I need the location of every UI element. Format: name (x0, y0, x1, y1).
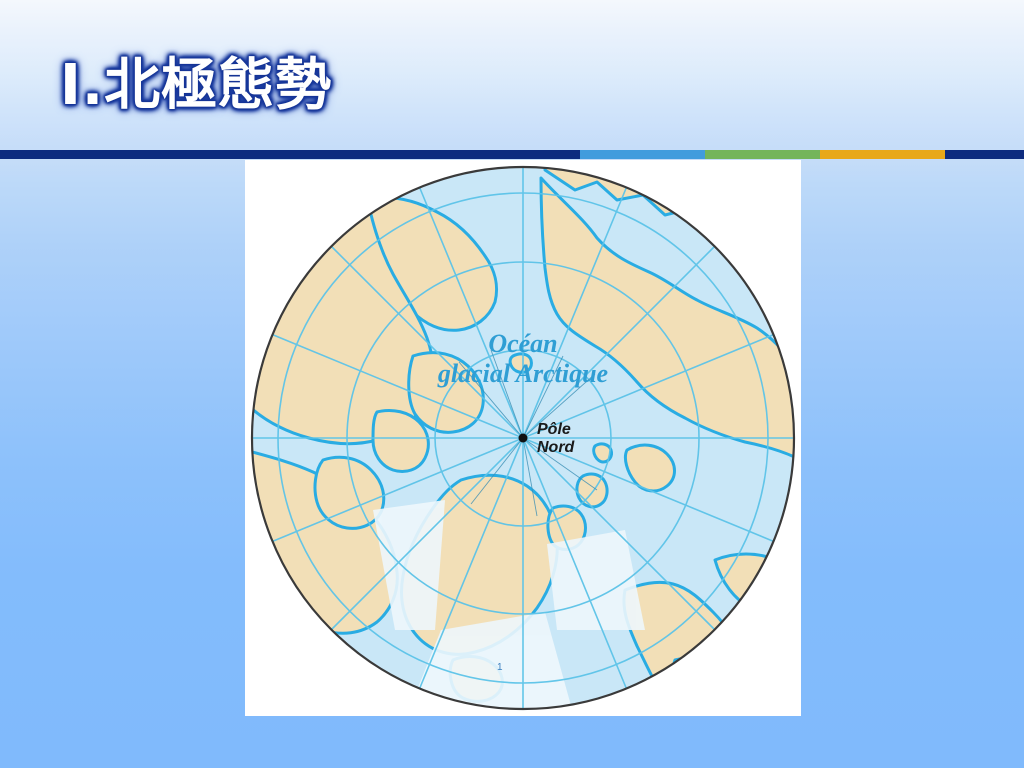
page-title: Ⅰ.北極態勢 (60, 58, 332, 114)
divider-segment-amber (820, 150, 945, 159)
title-area: Ⅰ.北極態勢 (0, 28, 1024, 138)
divider-segment-navy-left (0, 150, 580, 159)
divider-segment-light-blue (580, 150, 705, 159)
divider-bar (0, 150, 1024, 159)
pole-label-line2: Nord (537, 439, 576, 456)
land-europe-south (663, 658, 785, 716)
ocean-label-line2: glacial Arctique (437, 359, 608, 388)
north-pole-marker (519, 434, 528, 443)
scale-marker-label: 1 (497, 662, 503, 673)
divider-segment-green (705, 150, 820, 159)
pole-label-line1: Pôle (537, 421, 571, 438)
ocean-label-line1: Océan (488, 329, 557, 358)
divider-segment-navy-right (945, 150, 1024, 159)
arctic-map-image: Océan glacial Arctique Pôle Nord 1 (245, 160, 801, 716)
slide-canvas: Ⅰ.北極態勢 (0, 0, 1024, 768)
arctic-map-svg: Océan glacial Arctique Pôle Nord 1 (245, 160, 801, 716)
